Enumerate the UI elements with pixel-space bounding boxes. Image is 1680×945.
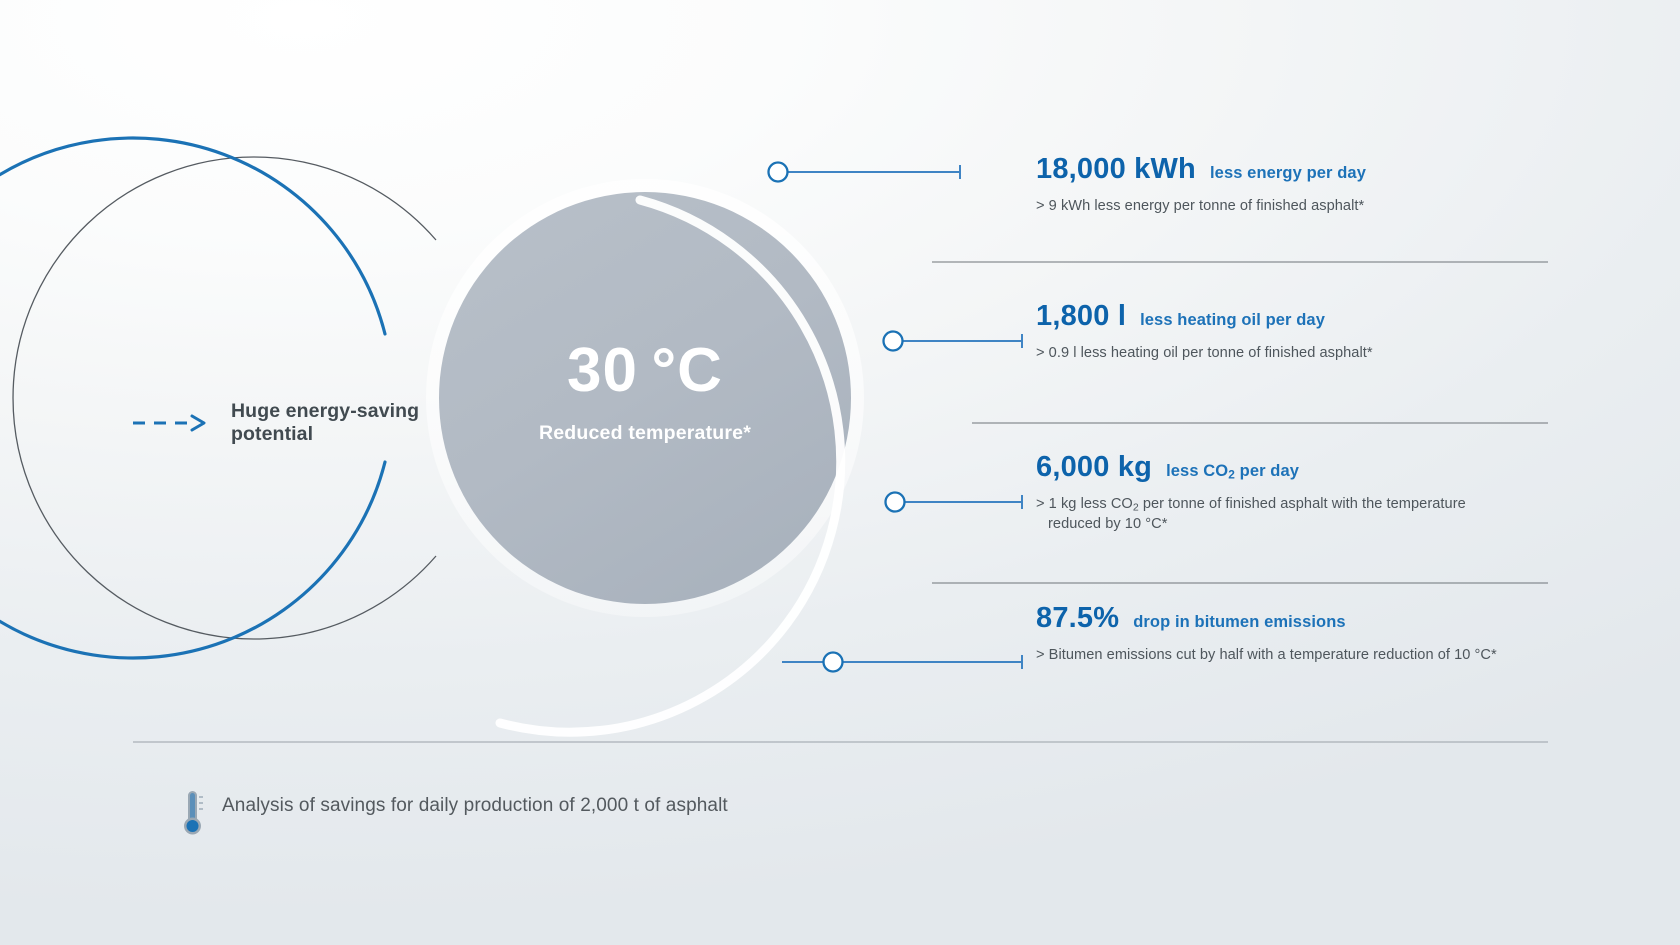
outer-blue-arc (0, 138, 385, 658)
callout-heading: 18,000 kWhless energy per day (1036, 155, 1366, 184)
callout-value: 18,000 kWh (1036, 155, 1196, 184)
callout-energy: 18,000 kWhless energy per day > 9 kWh le… (1036, 155, 1366, 217)
inner-thin-arc (13, 157, 436, 639)
temperature-disc (439, 192, 851, 604)
callout-value: 1,800 l (1036, 302, 1126, 331)
callout-heading: 1,800 lless heating oil per day (1036, 302, 1373, 331)
thermometer-icon (184, 791, 203, 835)
callout-heating-oil: 1,800 lless heating oil per day > 0.9 l … (1036, 302, 1373, 364)
dashed-arrow-right-icon (133, 416, 204, 430)
callout-description-line1: > 9 kWh less energy per tonne of finishe… (1036, 198, 1364, 214)
callout-description: > 9 kWh less energy per tonne of finishe… (1036, 197, 1366, 217)
callout-unit: less energy per day (1210, 165, 1366, 182)
connector-dot-4[interactable] (824, 653, 843, 672)
left-note-line1: Huge energy-saving (231, 400, 419, 422)
connector-dot-2[interactable] (884, 332, 903, 351)
footer-caption: Analysis of savings for daily production… (222, 795, 728, 817)
callout-heading: 87.5%drop in bitumen emissions (1036, 604, 1497, 633)
callout-bitumen: 87.5%drop in bitumen emissions > Bitumen… (1036, 604, 1497, 666)
callout-unit: less heating oil per day (1140, 312, 1325, 329)
callout-description: > Bitumen emissions cut by half with a t… (1036, 646, 1497, 666)
callout-co2: 6,000 kgless CO2 per day > 1 kg less CO2… (1036, 453, 1466, 535)
infographic-canvas: Huge energy-saving potential 30 °C Reduc… (0, 0, 1680, 945)
left-note-line2: potential (231, 423, 461, 446)
callout-unit: less CO2 per day (1166, 463, 1299, 481)
left-note: Huge energy-saving potential (231, 400, 461, 446)
connector-dot-3[interactable] (886, 493, 905, 512)
callout-description-line1: > 1 kg less CO2 per tonne of finished as… (1036, 496, 1466, 512)
callout-description-line1: > 0.9 l less heating oil per tonne of fi… (1036, 345, 1373, 361)
callout-unit: drop in bitumen emissions (1133, 614, 1345, 631)
callout-value: 87.5% (1036, 604, 1119, 633)
connector-dot-1[interactable] (769, 163, 788, 182)
callout-description-line1: > Bitumen emissions cut by half with a t… (1036, 647, 1497, 663)
callout-description-line2: reduced by 10 °C* (1036, 515, 1466, 535)
callout-description: > 0.9 l less heating oil per tonne of fi… (1036, 344, 1373, 364)
callout-description: > 1 kg less CO2 per tonne of finished as… (1036, 495, 1466, 535)
callout-heading: 6,000 kgless CO2 per day (1036, 453, 1466, 482)
callout-value: 6,000 kg (1036, 453, 1152, 482)
